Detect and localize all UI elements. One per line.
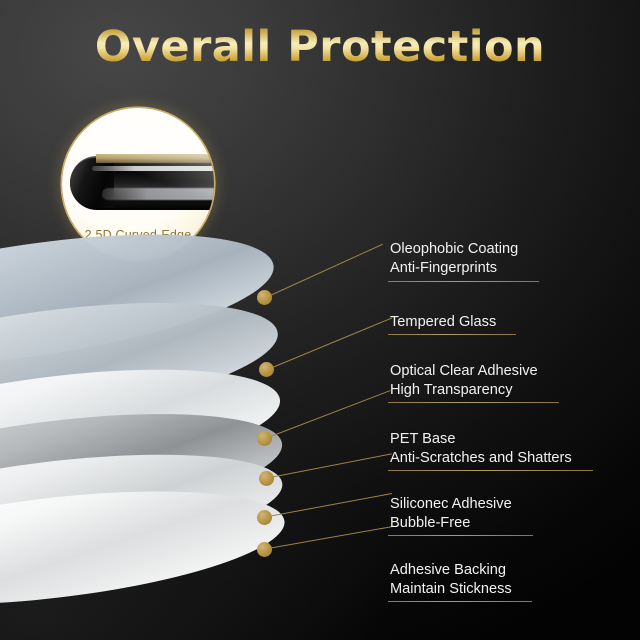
glass-edge-gold-strip	[96, 154, 214, 163]
callout-rule-6	[388, 601, 532, 602]
callout-rule-4	[388, 470, 593, 471]
product-infographic: Overall Protection 2.5D Curved-Edge Oleo…	[0, 0, 640, 640]
callout-dot-6[interactable]	[257, 542, 272, 557]
callout-rule-1	[388, 281, 539, 282]
callout-rule-2	[388, 334, 516, 335]
callout-dot-2[interactable]	[259, 362, 274, 377]
callout-3-line2: High Transparency	[390, 381, 538, 400]
callout-1-line2: Anti-Fingerprints	[390, 259, 518, 278]
callout-label-6: Adhesive Backing Maintain Stickness	[390, 561, 512, 599]
callout-rule-5	[388, 535, 533, 536]
callout-rule-3	[388, 402, 559, 403]
glass-edge-highlight-top	[92, 166, 214, 171]
callout-label-4: PET Base Anti-Scratches and Shatters	[390, 430, 572, 468]
callout-4-line1: PET Base	[390, 431, 455, 447]
page-title: Overall Protection	[0, 22, 640, 72]
callout-dot-3[interactable]	[257, 431, 272, 446]
callout-label-1: Oleophobic Coating Anti-Fingerprints	[390, 240, 518, 278]
callout-6-line2: Maintain Stickness	[390, 580, 512, 599]
callout-label-3: Optical Clear Adhesive High Transparency	[390, 362, 538, 400]
glass-edge-illustration	[62, 150, 214, 216]
callout-label-2: Tempered Glass	[390, 313, 496, 332]
callout-3-line1: Optical Clear Adhesive	[390, 363, 538, 379]
glass-edge-highlight-lower	[102, 188, 214, 200]
callout-1-line1: Oleophobic Coating	[390, 241, 518, 257]
callout-4-line2: Anti-Scratches and Shatters	[390, 449, 572, 468]
callout-6-line1: Adhesive Backing	[390, 562, 506, 578]
callout-5-line1: Siliconec Adhesive	[390, 496, 512, 512]
callout-2-line1: Tempered Glass	[390, 314, 496, 330]
callout-dot-5[interactable]	[257, 510, 272, 525]
callout-label-5: Siliconec Adhesive Bubble-Free	[390, 495, 512, 533]
callout-dot-4[interactable]	[259, 471, 274, 486]
callout-5-line2: Bubble-Free	[390, 514, 512, 533]
callout-dot-1[interactable]	[257, 290, 272, 305]
